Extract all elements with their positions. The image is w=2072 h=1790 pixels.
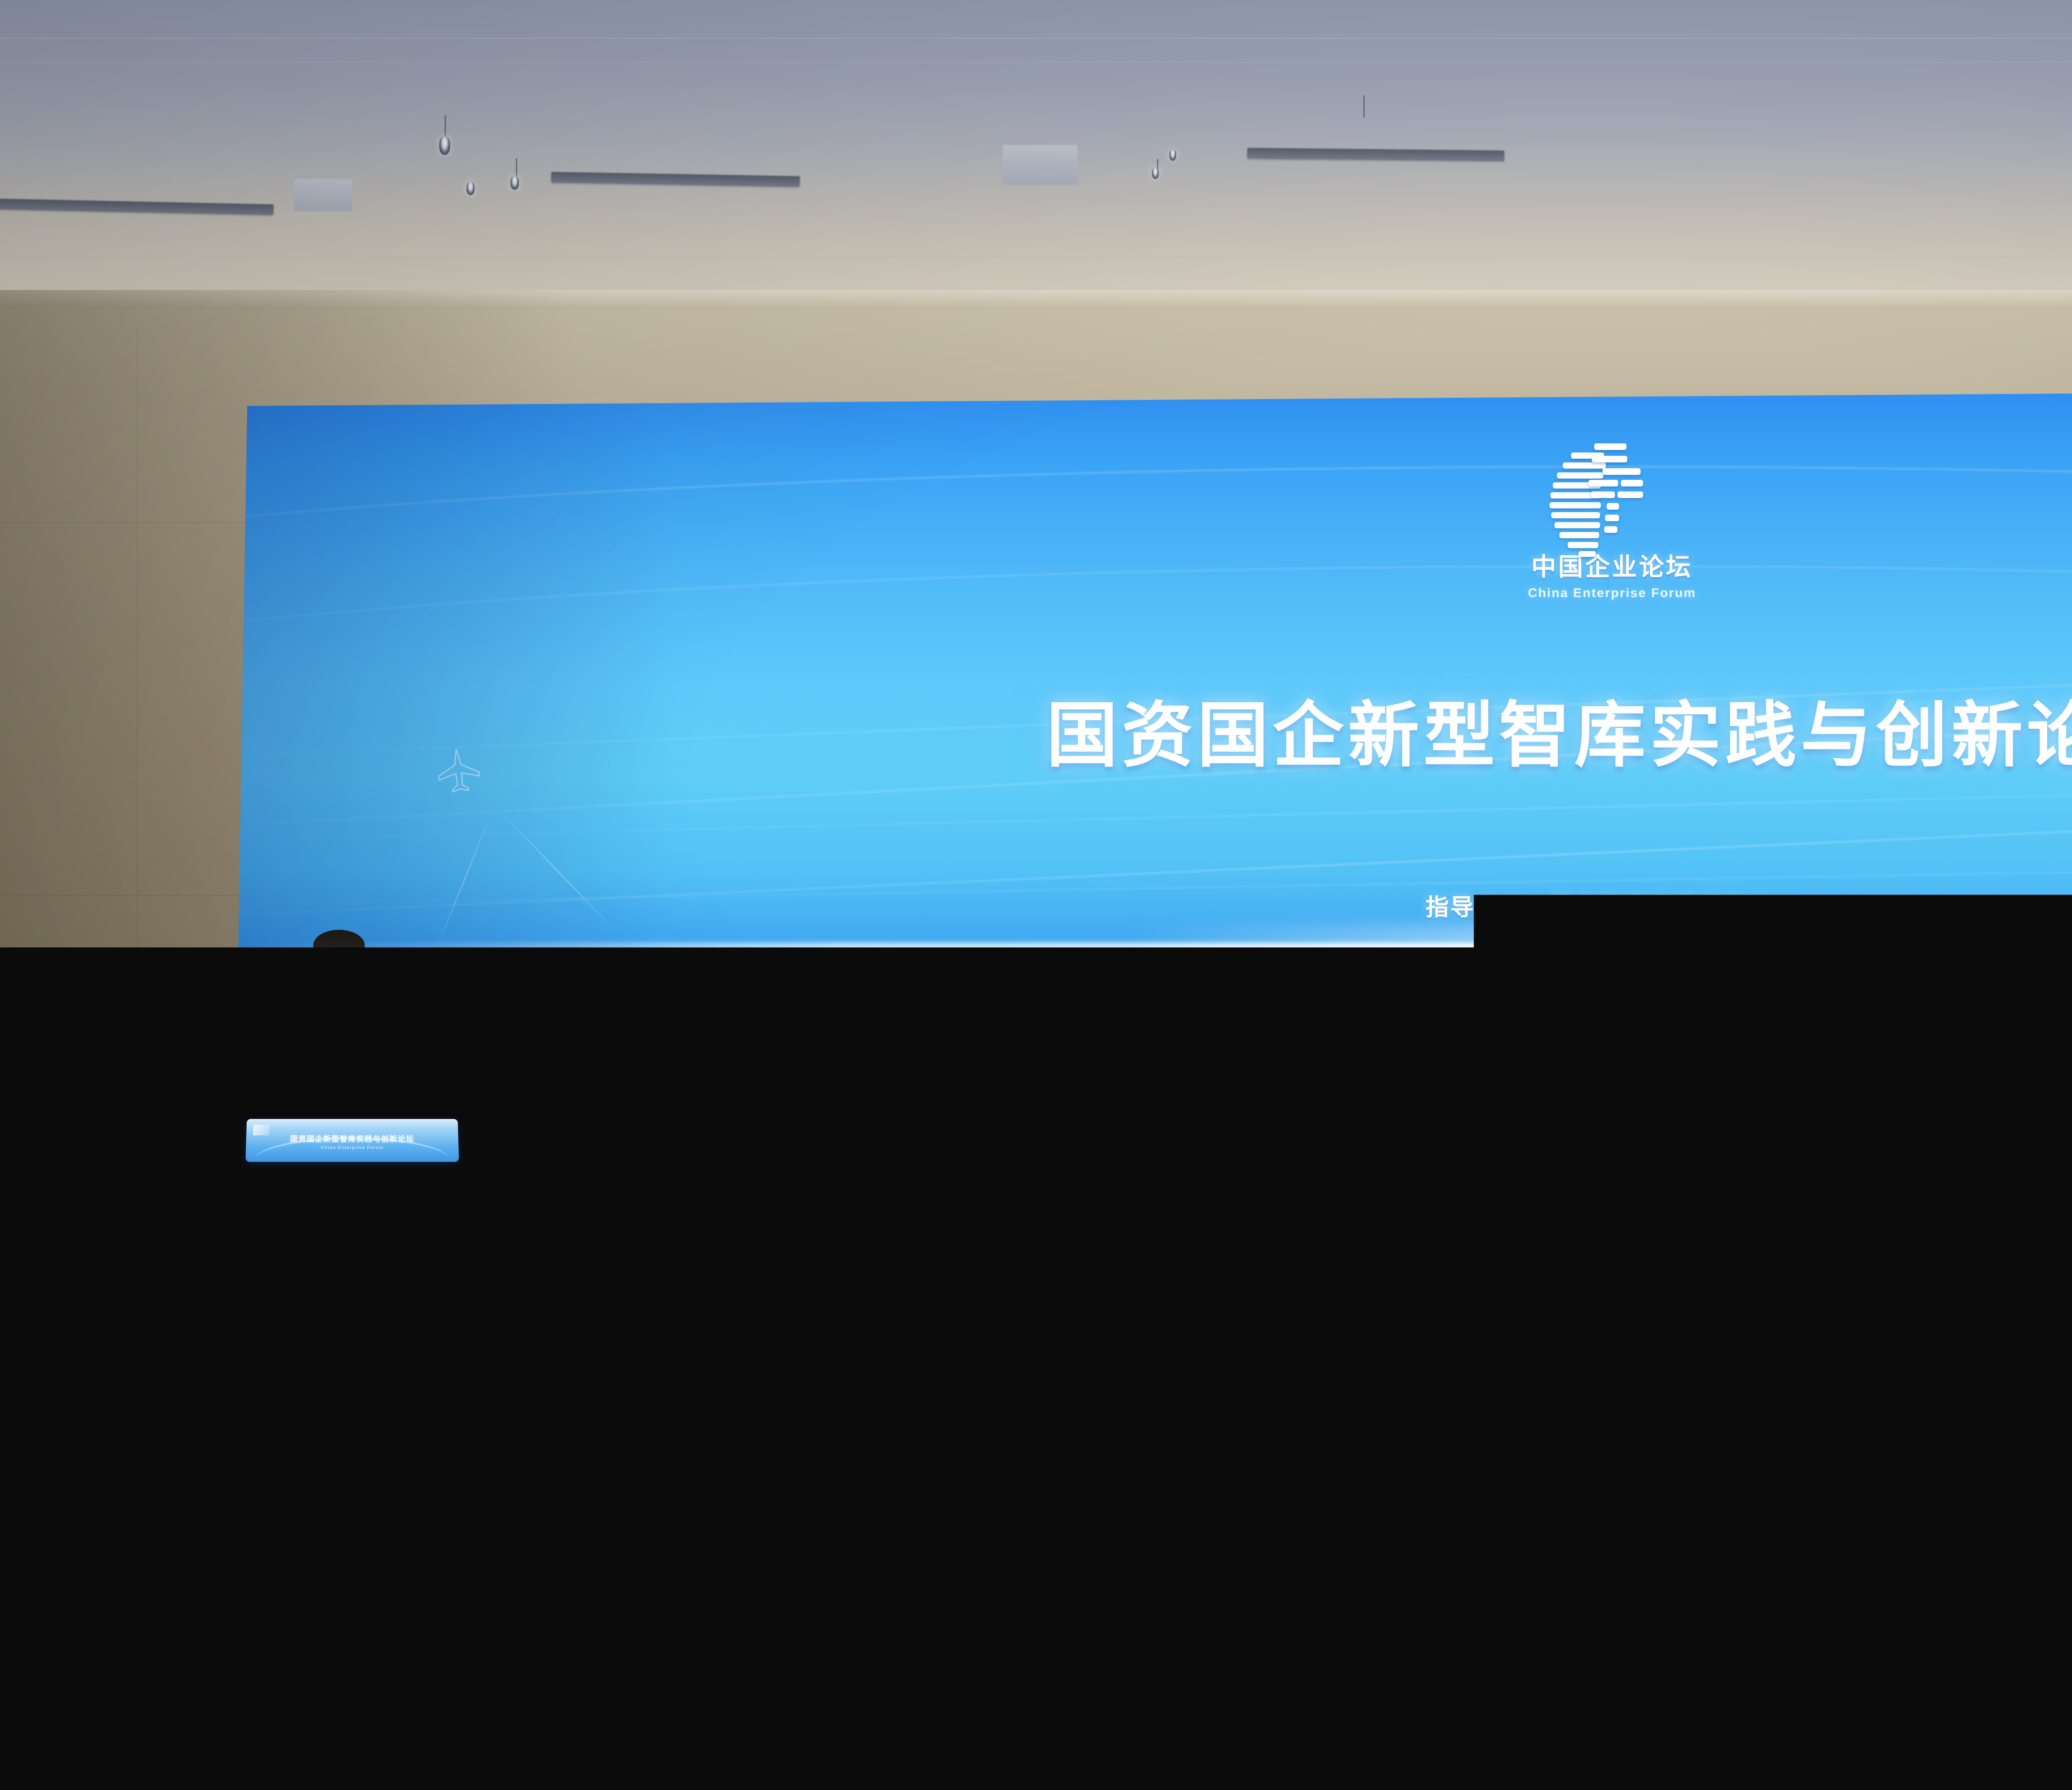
ceiling-spotlight <box>1169 149 1176 161</box>
conference-hall-scene: 中国企业论坛 China Enterprise Forum 国资国企新型智库实践… <box>0 0 2072 1790</box>
china-enterprise-forum-globe-mark <box>1548 438 1676 563</box>
lectern-banner-text-en: China Enterprise Forum <box>321 1145 384 1150</box>
lectern-group: 国资国企新型智库实践与创新论坛 China Enterprise Forum <box>265 932 439 1372</box>
ceiling-light-slot <box>551 172 800 187</box>
lectern-logo-icon <box>253 1125 270 1135</box>
audience-area <box>0 1401 2072 1790</box>
speaker-glasses-icon <box>320 958 358 964</box>
lectern-banner-text: 国资国企新型智库实践与创新论坛 <box>290 1133 414 1144</box>
audience-chair <box>211 1566 501 1790</box>
ceiling-spotlight <box>511 176 519 190</box>
lectern-banner-panel: 国资国企新型智库实践与创新论坛 China Enterprise Forum <box>245 1119 459 1162</box>
speaker-badge <box>370 1052 380 1068</box>
ceiling-vent <box>1003 145 1077 185</box>
speaker-hair <box>313 930 365 960</box>
name-card <box>1268 1545 1326 1563</box>
program-booklet <box>1027 1570 1116 1606</box>
led-stage-screen: 中国企业论坛 China Enterprise Forum 国资国企新型智库实践… <box>232 387 2072 1316</box>
ceiling-light-slot <box>1247 148 1504 161</box>
lectern-body <box>283 1159 420 1333</box>
ceiling-spotlight <box>467 181 474 195</box>
ceiling-light-slot <box>0 198 274 215</box>
ceiling-spotlight <box>439 136 450 155</box>
ceiling-spotlight <box>1152 167 1159 179</box>
ceiling-vent <box>294 179 352 211</box>
document-folder <box>1450 1572 1559 1613</box>
name-card <box>638 1548 700 1567</box>
logo-english-name: China Enterprise Forum <box>1528 585 1696 600</box>
forum-logo: 中国企业论坛 China Enterprise Forum <box>1528 438 1696 600</box>
lectern-base <box>274 1328 429 1343</box>
name-card <box>1442 1545 1508 1565</box>
location-date-line: 中国 · 北京 2025 · 11 <box>1475 1042 1749 1076</box>
guiding-organization-line: 指导单位：国务院国资委研究中心 <box>1426 889 1798 922</box>
host-organization-line: 承办单位：国网能源研究院有限公司 <box>1413 955 1811 989</box>
forum-title: 国资国企新型智库实践与创新论坛 <box>1046 677 2072 781</box>
ceiling <box>0 0 2072 298</box>
